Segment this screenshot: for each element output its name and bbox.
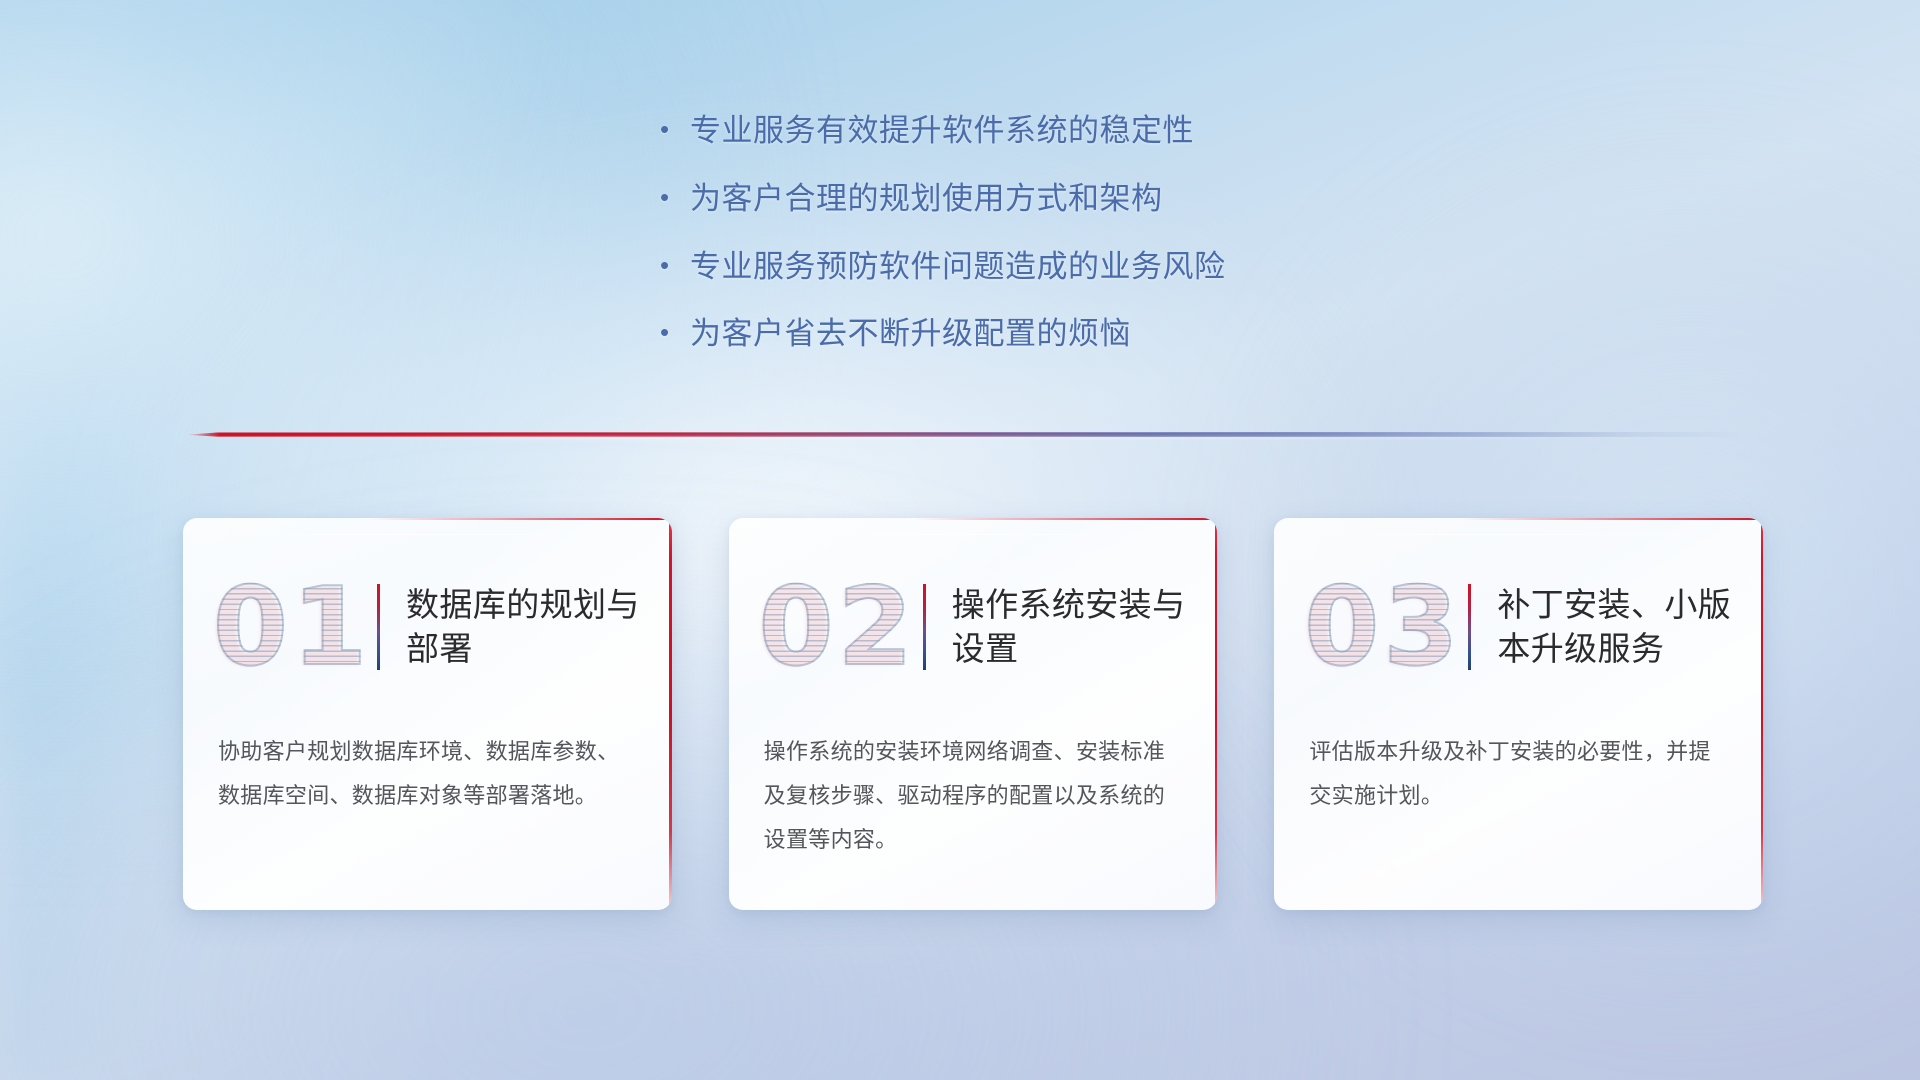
card-number-text: 01 bbox=[207, 562, 377, 692]
bullet-item: • 专业服务预防软件问题造成的业务风险 bbox=[660, 248, 1480, 287]
card-title: 操作系统安装与设置 bbox=[952, 583, 1218, 671]
card-header: 02 02 操作系统安装与设置 bbox=[729, 562, 1218, 692]
benefits-bullet-list: • 专业服务有效提升软件系统的稳定性 • 为客户合理的规划使用方式和架构 • 专… bbox=[660, 112, 1480, 383]
card-accent-top-edge bbox=[369, 518, 672, 520]
bullet-dot-icon: • bbox=[660, 252, 690, 278]
bullet-item-text: 专业服务预防软件问题造成的业务风险 bbox=[690, 248, 1480, 287]
bullet-item-text: 为客户合理的规划使用方式和架构 bbox=[690, 180, 1480, 219]
bullet-dot-icon: • bbox=[660, 184, 690, 210]
card-number-watermark: 03 03 bbox=[1298, 562, 1468, 692]
card-number-text: 03 bbox=[1298, 562, 1468, 692]
bullet-item: • 专业服务有效提升软件系统的稳定性 bbox=[660, 112, 1480, 151]
service-card[interactable]: 01 01 数据库的规划与部署 协助客户规划数据库环境、数据库参数、数据库空间、… bbox=[183, 518, 672, 910]
card-title-rule bbox=[377, 584, 380, 670]
service-card-group: 01 01 数据库的规划与部署 协助客户规划数据库环境、数据库参数、数据库空间、… bbox=[183, 518, 1763, 910]
card-number-watermark: 02 02 bbox=[753, 562, 923, 692]
card-accent-top-edge bbox=[914, 518, 1217, 520]
bullet-dot-icon: • bbox=[660, 116, 690, 142]
card-title-rule bbox=[1468, 584, 1471, 670]
card-top-highlight bbox=[205, 534, 650, 535]
card-body-text: 评估版本升级及补丁安装的必要性，并提交实施计划。 bbox=[1309, 730, 1733, 818]
service-card[interactable]: 03 03 补丁安装、小版本升级服务 评估版本升级及补丁安装的必要性，并提交实施… bbox=[1274, 518, 1763, 910]
divider-highlight bbox=[186, 436, 1738, 439]
section-divider bbox=[186, 425, 1738, 443]
bullet-item-text: 为客户省去不断升级配置的烦恼 bbox=[690, 315, 1480, 354]
card-accent-top-edge bbox=[1460, 518, 1763, 520]
bullet-item: • 为客户合理的规划使用方式和架构 bbox=[660, 180, 1480, 219]
card-top-highlight bbox=[751, 534, 1196, 535]
bullet-item: • 为客户省去不断升级配置的烦恼 bbox=[660, 315, 1480, 354]
card-title: 数据库的规划与部署 bbox=[406, 583, 672, 671]
card-number-watermark: 01 01 bbox=[207, 562, 377, 692]
card-header: 03 03 补丁安装、小版本升级服务 bbox=[1274, 562, 1763, 692]
card-title-rule bbox=[923, 584, 926, 670]
card-header: 01 01 数据库的规划与部署 bbox=[183, 562, 672, 692]
card-body-text: 操作系统的安装环境网络调查、安装标准及复核步骤、驱动程序的配置以及系统的设置等内… bbox=[764, 730, 1188, 862]
bullet-dot-icon: • bbox=[660, 319, 690, 345]
card-top-highlight bbox=[1296, 534, 1741, 535]
service-card[interactable]: 02 02 操作系统安装与设置 操作系统的安装环境网络调查、安装标准及复核步骤、… bbox=[729, 518, 1218, 910]
card-title: 补丁安装、小版本升级服务 bbox=[1497, 583, 1763, 671]
bullet-item-text: 专业服务有效提升软件系统的稳定性 bbox=[690, 112, 1480, 151]
card-body-text: 协助客户规划数据库环境、数据库参数、数据库空间、数据库对象等部署落地。 bbox=[218, 730, 642, 818]
card-number-text: 02 bbox=[753, 562, 923, 692]
